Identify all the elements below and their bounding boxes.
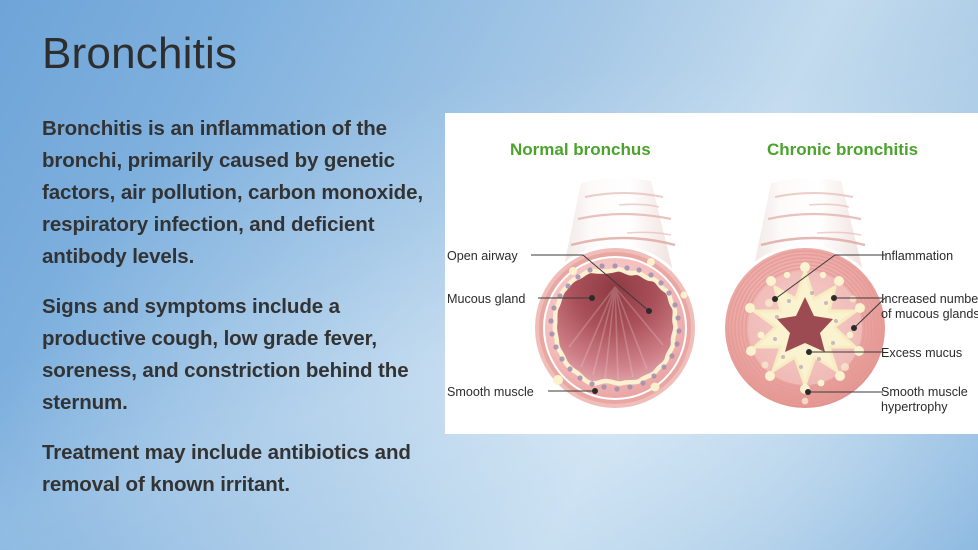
body-text-column: Bronchitis is an inflammation of the bro… — [42, 113, 432, 519]
label-increased-number-line1: Increased number — [881, 292, 978, 306]
leader-mucous-gland — [538, 287, 600, 307]
label-hypertrophy-line1: Smooth muscle — [881, 385, 968, 399]
slide-canvas: Bronchitis Bronchitis is an inflammation… — [0, 0, 978, 550]
bronchitis-illustration-panel: Normal bronchus Chronic bronchitis — [445, 113, 978, 434]
leader-smooth-muscle — [548, 380, 610, 400]
leader-open-airway — [531, 243, 656, 323]
leader-smooth-muscle-hypertrophy — [803, 381, 887, 403]
label-increased-number-line2: of mucous glands — [881, 307, 978, 321]
label-mucous-gland: Mucous gland — [447, 292, 525, 307]
label-inflammation: Inflammation — [881, 249, 953, 264]
label-excess-mucus: Excess mucus — [881, 346, 962, 361]
label-hypertrophy-line2: hypertrophy — [881, 400, 948, 414]
label-smooth-muscle: Smooth muscle — [447, 385, 534, 400]
leader-increased-number-b — [849, 295, 889, 337]
figure-heading-normal: Normal bronchus — [510, 140, 651, 160]
paragraph-treatment: Treatment may include antibiotics and re… — [42, 437, 432, 501]
label-increased-number-of-mucous-glands: Increased number of mucous glands — [881, 292, 978, 323]
figure-heading-chronic: Chronic bronchitis — [767, 140, 918, 160]
page-title: Bronchitis — [42, 30, 237, 78]
label-smooth-muscle-hypertrophy: Smooth muscle hypertrophy — [881, 385, 968, 416]
paragraph-symptoms: Signs and symptoms include a productive … — [42, 291, 432, 419]
label-open-airway: Open airway — [447, 249, 518, 264]
leader-excess-mucus — [806, 341, 886, 363]
paragraph-definition: Bronchitis is an inflammation of the bro… — [42, 113, 432, 273]
